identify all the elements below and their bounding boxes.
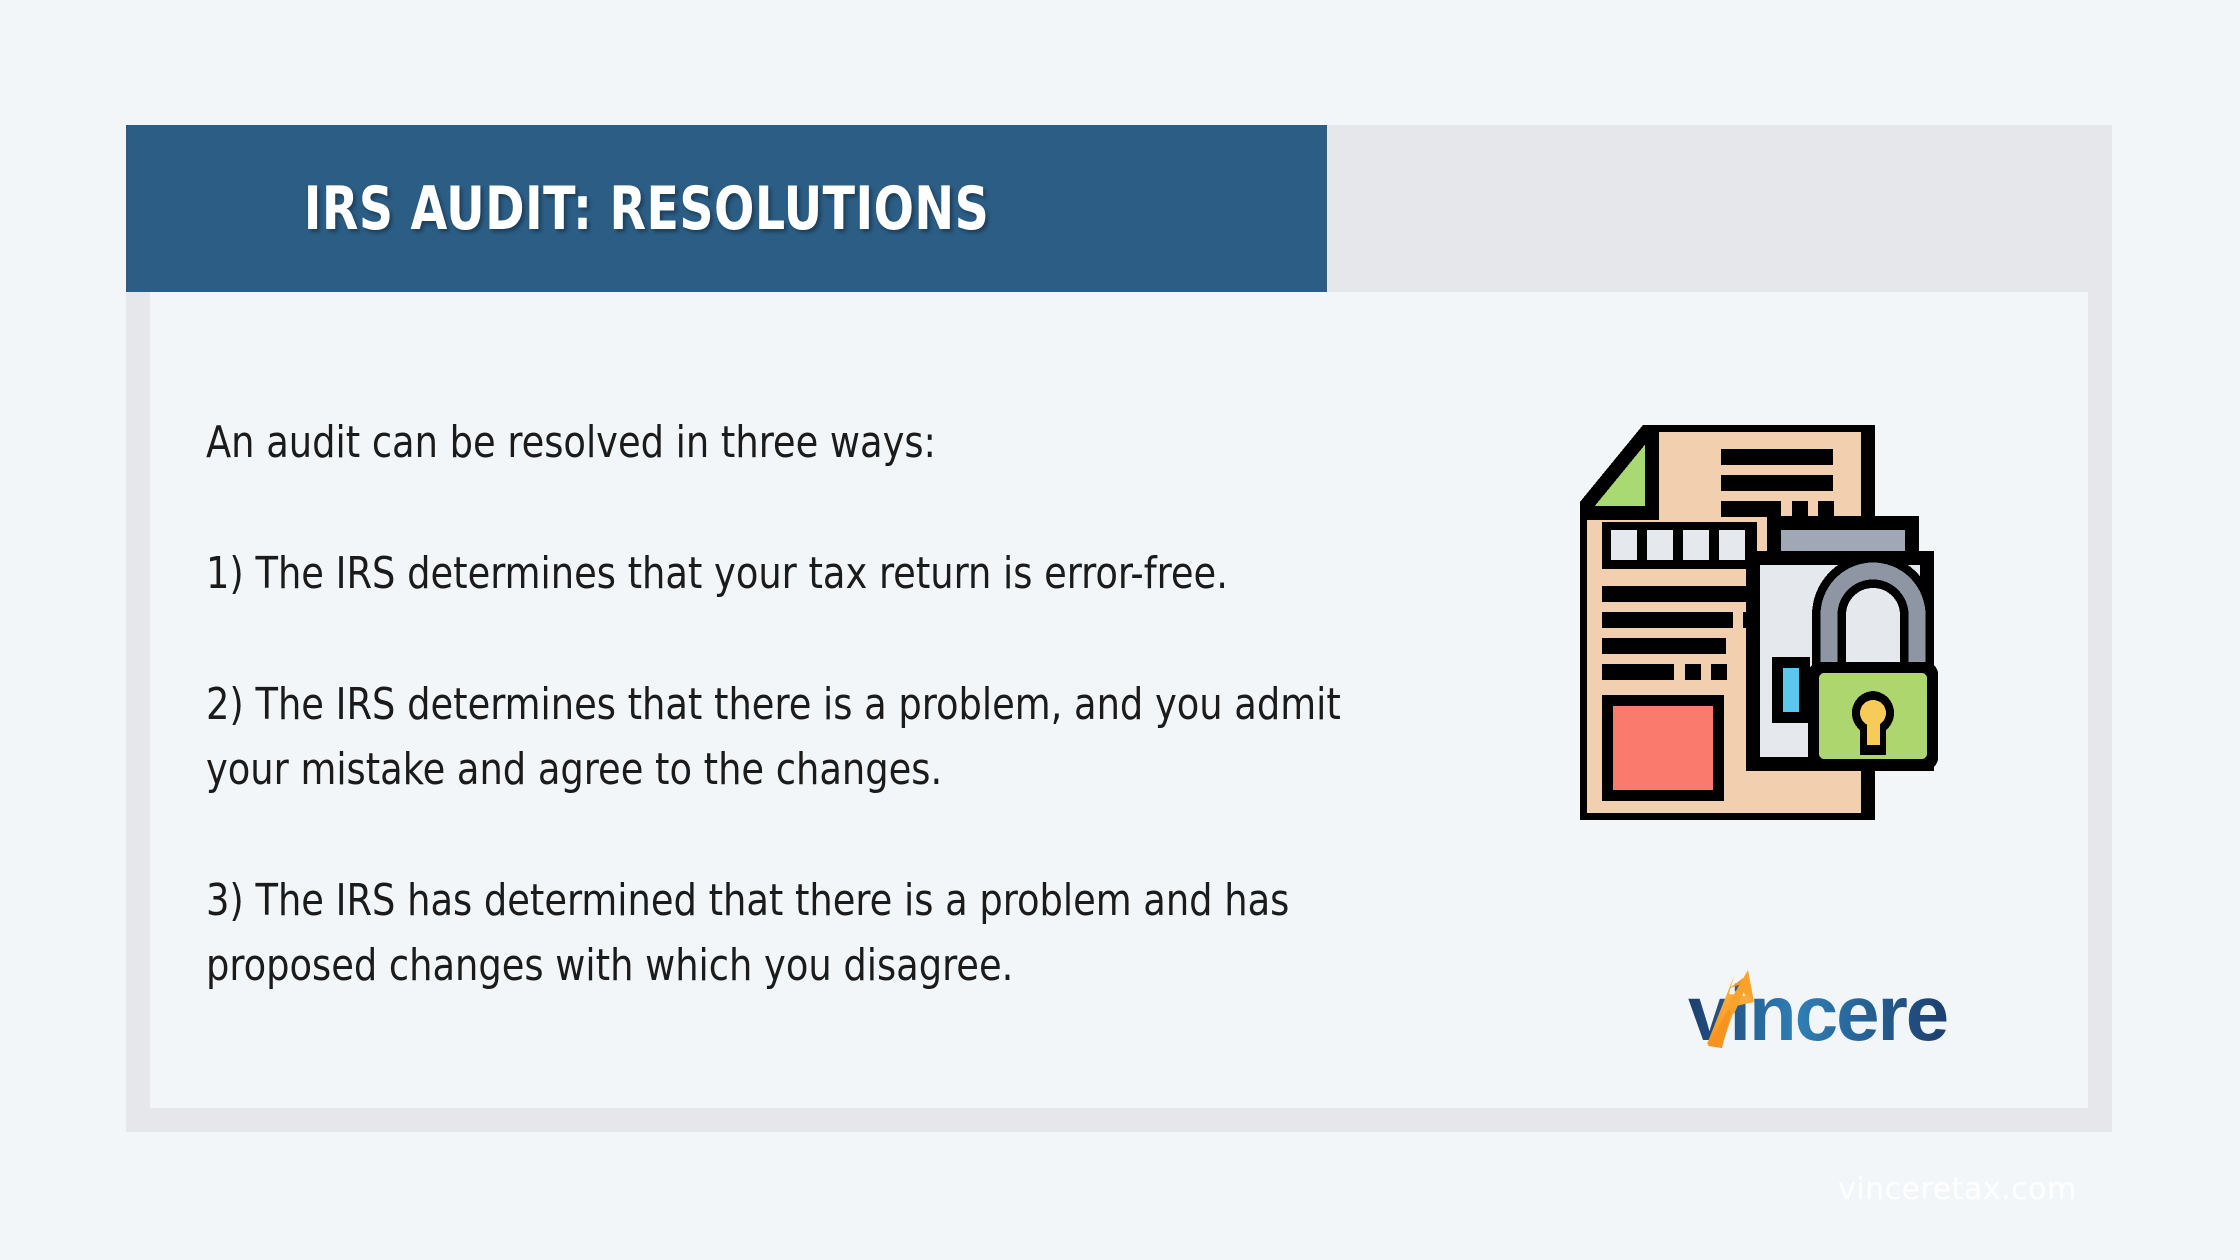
resolution-item-1: 1) The IRS determines that your tax retu… bbox=[206, 541, 1359, 606]
header-banner: IRS AUDIT: RESOLUTIONS bbox=[126, 125, 1327, 292]
resolution-item-3: 3) The IRS has determined that there is … bbox=[206, 868, 1359, 998]
document-checkbox-row bbox=[1602, 522, 1757, 569]
watermark: vinceretax.com bbox=[1838, 1172, 2077, 1207]
resolution-item-2: 2) The IRS determines that there is a pr… bbox=[206, 672, 1359, 802]
document-red-block bbox=[1602, 695, 1724, 801]
page-title: IRS AUDIT: RESOLUTIONS bbox=[126, 179, 989, 239]
body-copy: An audit can be resolved in three ways: … bbox=[206, 410, 1446, 998]
intro-paragraph: An audit can be resolved in three ways: bbox=[206, 410, 1359, 475]
secure-tax-document-illustration bbox=[1580, 425, 1976, 820]
vincere-logo: vincere bbox=[1650, 962, 1970, 1062]
